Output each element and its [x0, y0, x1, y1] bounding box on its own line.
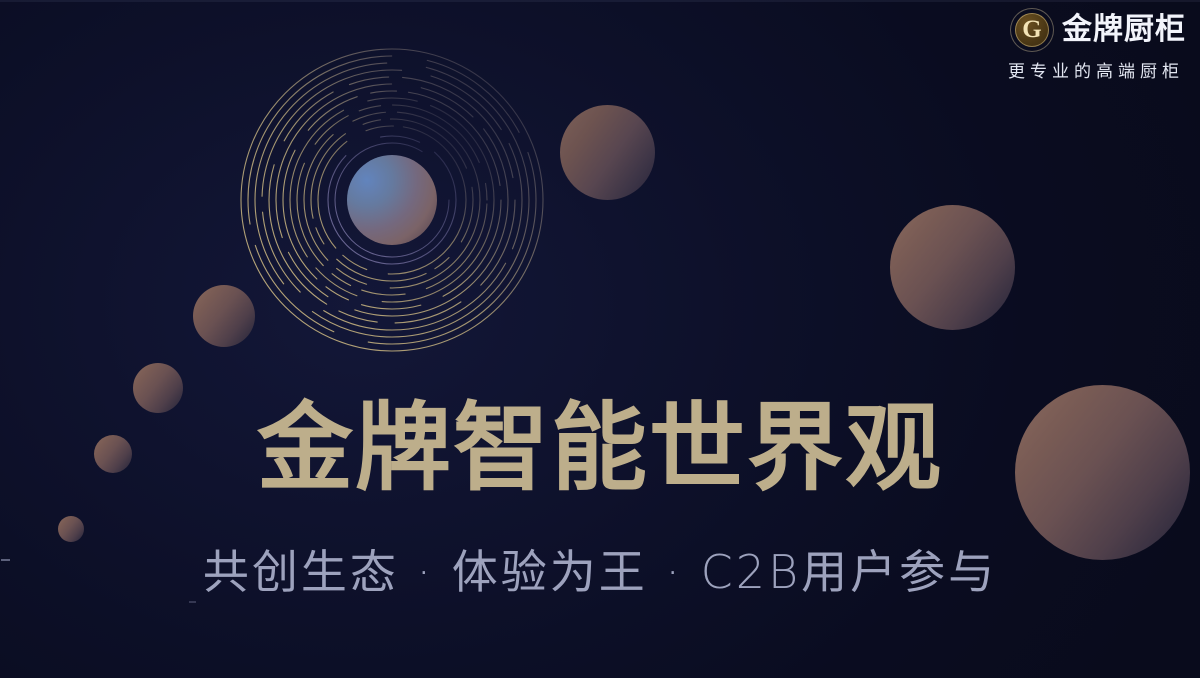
- brand-name: 金牌厨柜: [1062, 13, 1186, 47]
- planet-right-upper: [890, 205, 1015, 330]
- page-title: 金牌智能世界观: [0, 394, 1200, 504]
- brand-lockup: G 金牌厨柜 更专业的高端厨柜: [1008, 8, 1186, 82]
- brand-tagline: 更专业的高端厨柜: [1008, 57, 1186, 82]
- planet-left-upper: [193, 285, 255, 347]
- poster-canvas: 金牌智能世界观 共创生态 · 体验为王 · C2B用户参与 G 金牌厨柜 更专业…: [0, 0, 1200, 678]
- gold-medal-g-logo-icon: G: [1010, 8, 1054, 52]
- brand-badge-letter: G: [1022, 17, 1041, 42]
- planet-left-edge: [58, 516, 84, 542]
- brand-row: G 金牌厨柜: [1010, 8, 1186, 52]
- planet-top-center: [560, 105, 655, 200]
- page-subtitle: 共创生态 · 体验为王 · C2B用户参与: [0, 541, 1200, 603]
- blue-gradient-sphere: [347, 155, 437, 245]
- top-hairline: [0, 0, 1200, 2]
- concentric-dashed-rings: [238, 46, 546, 354]
